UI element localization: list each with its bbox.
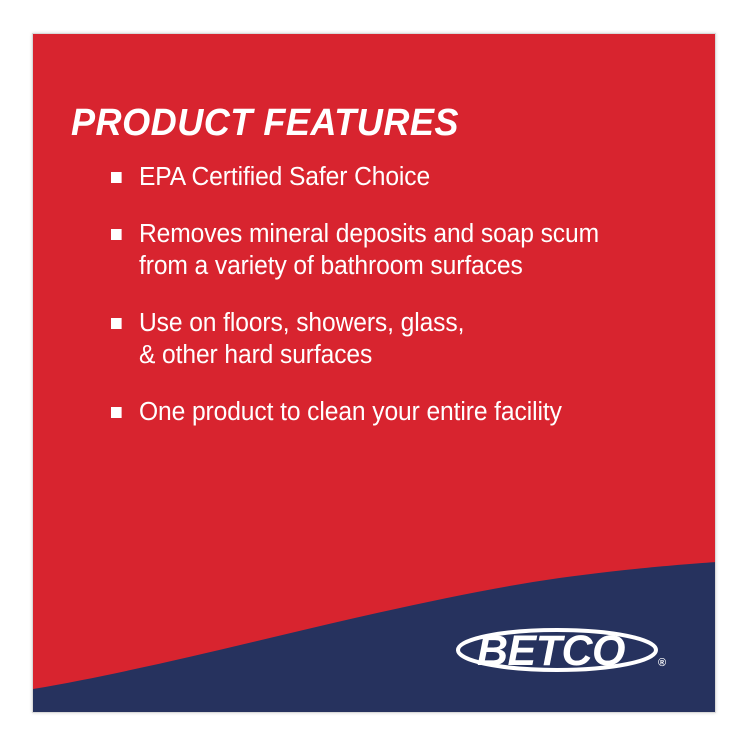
- feature-text-line: Use on floors, showers, glass,: [139, 308, 661, 339]
- page-title: PRODUCT FEATURES: [71, 104, 459, 142]
- square-bullet-icon: [111, 229, 122, 240]
- feature-list-item: EPA Certified Safer Choice: [111, 162, 661, 193]
- feature-text-line: from a variety of bathroom surfaces: [139, 251, 661, 282]
- betco-logo: BETCO ®: [451, 620, 679, 678]
- feature-list: EPA Certified Safer ChoiceRemoves minera…: [111, 162, 681, 455]
- feature-card: PRODUCT FEATURES EPA Certified Safer Cho…: [32, 33, 716, 713]
- feature-list-item: Removes mineral deposits and soap scumfr…: [111, 219, 661, 282]
- registered-trademark-icon: ®: [658, 657, 666, 669]
- feature-text-line: EPA Certified Safer Choice: [139, 162, 661, 193]
- feature-text-line: & other hard surfaces: [139, 340, 661, 371]
- feature-list-item: One product to clean your entire facilit…: [111, 397, 661, 428]
- betco-wordmark-text: BETCO: [477, 627, 625, 675]
- square-bullet-icon: [111, 407, 122, 418]
- product-feature-graphic: PRODUCT FEATURES EPA Certified Safer Cho…: [0, 0, 750, 750]
- feature-list-item: Use on floors, showers, glass,& other ha…: [111, 308, 661, 371]
- square-bullet-icon: [111, 172, 122, 183]
- feature-text-line: Removes mineral deposits and soap scum: [139, 219, 661, 250]
- square-bullet-icon: [111, 318, 122, 329]
- feature-text-line: One product to clean your entire facilit…: [139, 397, 661, 428]
